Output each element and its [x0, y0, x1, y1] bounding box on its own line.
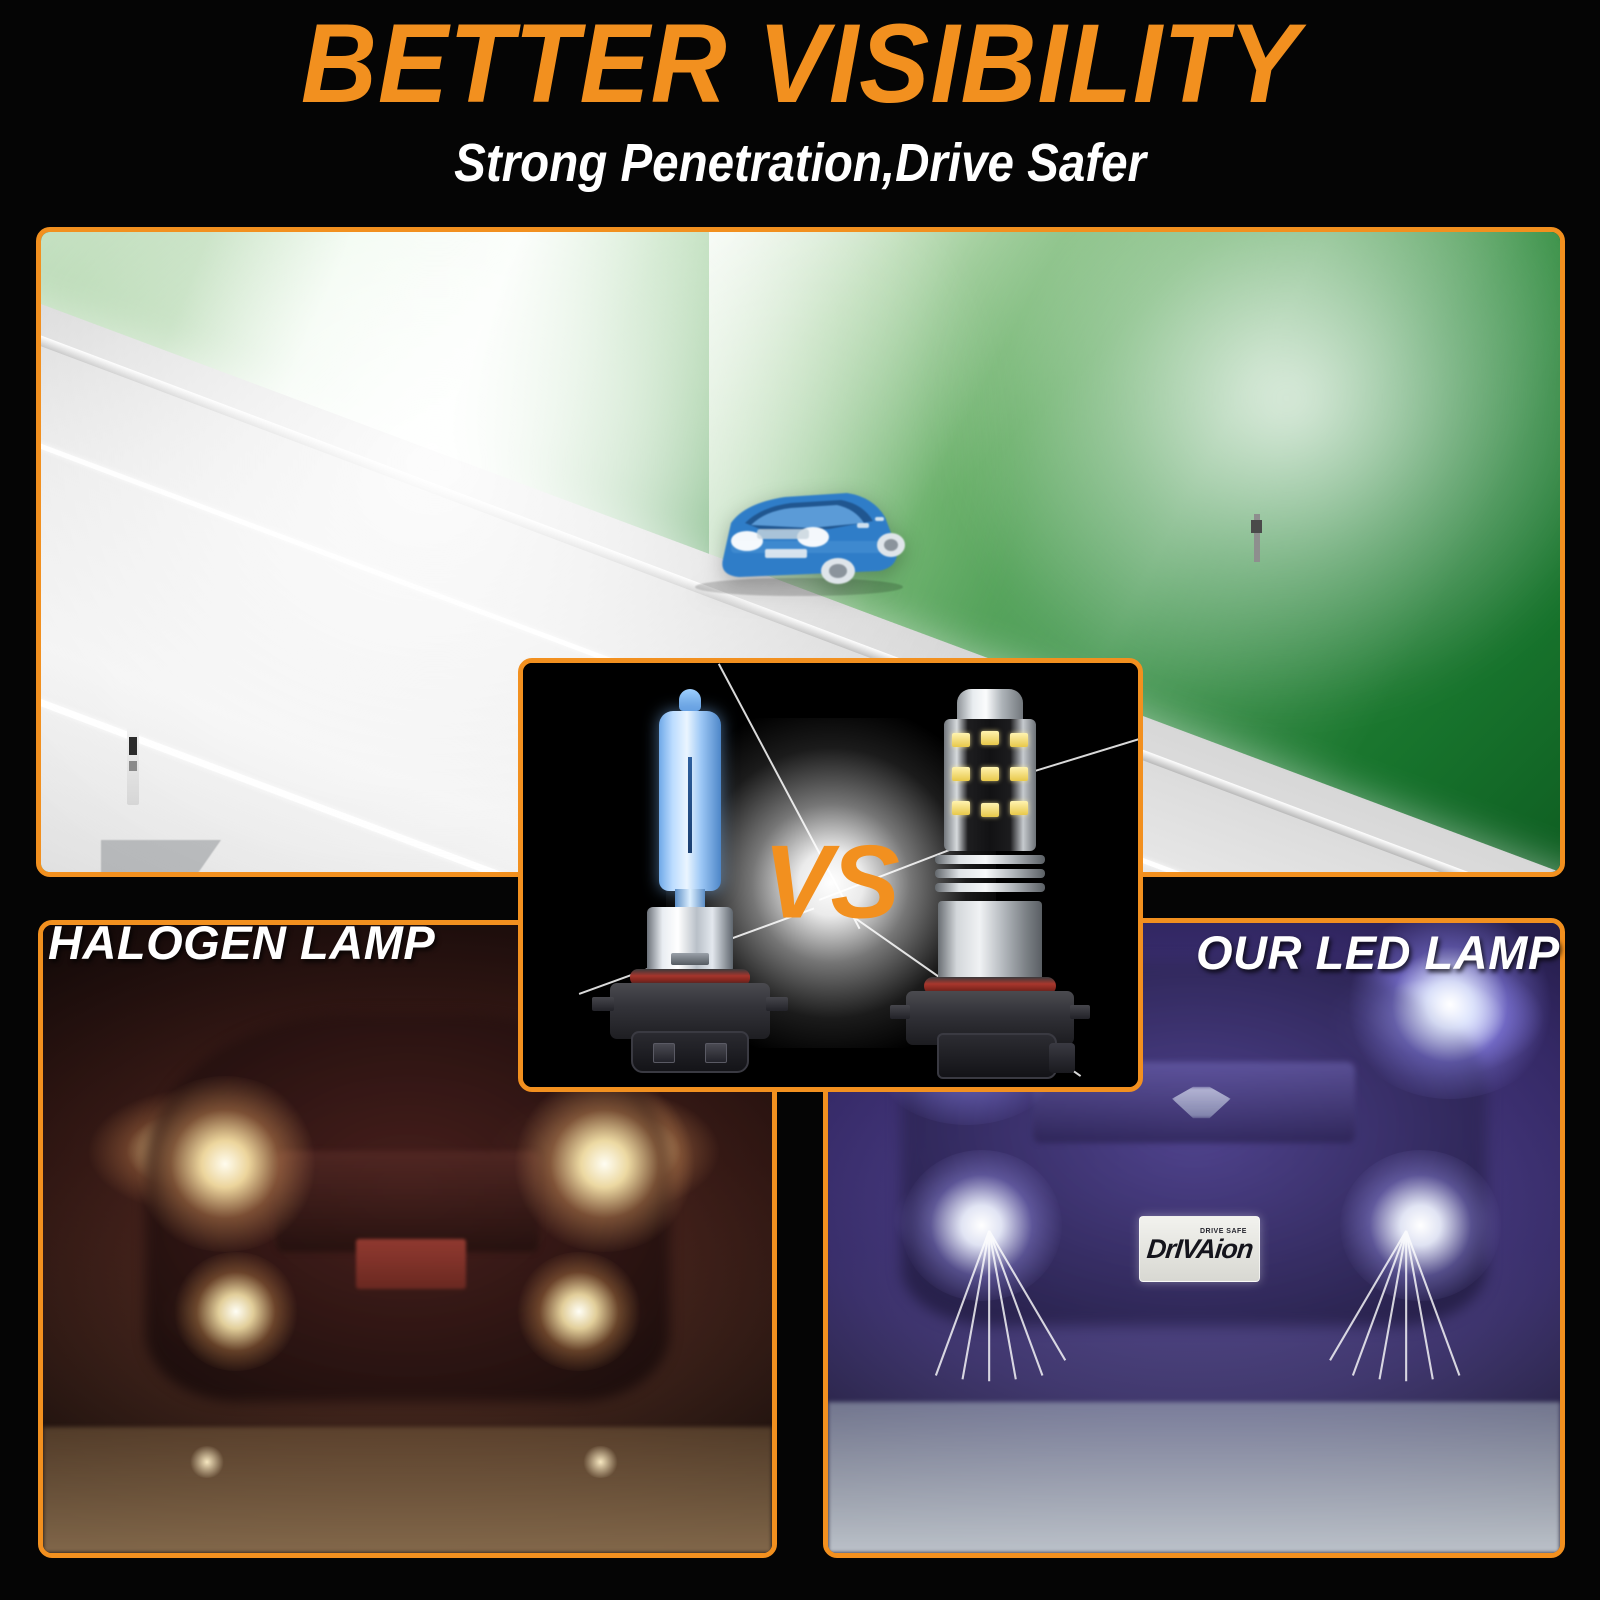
halogen-grille: [276, 1151, 538, 1251]
halogen-connector: [631, 1031, 749, 1073]
roadside-post-icon: [1254, 514, 1260, 562]
led-chip: [981, 767, 999, 781]
license-plate-text: DrIVAion: [1145, 1234, 1254, 1265]
halogen-chrome-reflector: [647, 907, 733, 971]
heatsink-fin: [935, 855, 1045, 864]
bulb-comparison-panel: VS: [518, 658, 1143, 1092]
road-sign-post-icon: [127, 727, 139, 805]
halogen-license-plate: [356, 1239, 465, 1289]
header: BETTER VISIBILITY Strong Penetration,Dri…: [0, 0, 1600, 215]
blue-car-illustration: [661, 479, 919, 597]
led-chip: [952, 767, 970, 781]
led-chip: [952, 801, 970, 815]
vs-scene: VS: [523, 663, 1138, 1087]
heatsink-fin: [935, 883, 1045, 892]
halogen-lamp-label: HALOGEN LAMP: [48, 915, 435, 970]
led-barrel: [938, 901, 1042, 981]
page-subtitle: Strong Penetration,Drive Safer: [454, 132, 1146, 194]
led-chip: [1010, 767, 1028, 781]
halogen-glass-envelope: [659, 711, 721, 891]
heatsink-fin: [935, 869, 1045, 878]
led-bulb-image: [875, 689, 1105, 1079]
page-title: BETTER VISIBILITY: [301, 8, 1300, 120]
connector-pin: [705, 1043, 727, 1063]
led-chip: [981, 803, 999, 817]
halogen-filament: [688, 757, 692, 853]
halogen-bulb-image: [595, 701, 785, 1071]
led-chip: [952, 733, 970, 747]
silver-car-illustration: [101, 840, 571, 877]
halogen-ground-reflection: [582, 1446, 618, 1477]
vs-label: VS: [763, 824, 898, 943]
led-chip: [981, 731, 999, 745]
license-plate-subtext: DRIVE SAFE: [1200, 1228, 1247, 1235]
halogen-ground: [43, 1427, 772, 1553]
led-chip-body: [944, 719, 1036, 851]
led-connector-plug: [937, 1033, 1057, 1079]
led-top-cap: [957, 689, 1023, 723]
halogen-ground-reflection: [189, 1446, 225, 1477]
connector-pin: [653, 1043, 675, 1063]
license-plate: DrIVAion DRIVE SAFE: [1139, 1216, 1260, 1282]
led-chip: [1010, 801, 1028, 815]
led-lamp-label: OUR LED LAMP: [1196, 925, 1560, 980]
halogen-glass-tip: [679, 689, 701, 711]
led-chip: [1010, 733, 1028, 747]
led-ground: [828, 1402, 1560, 1553]
